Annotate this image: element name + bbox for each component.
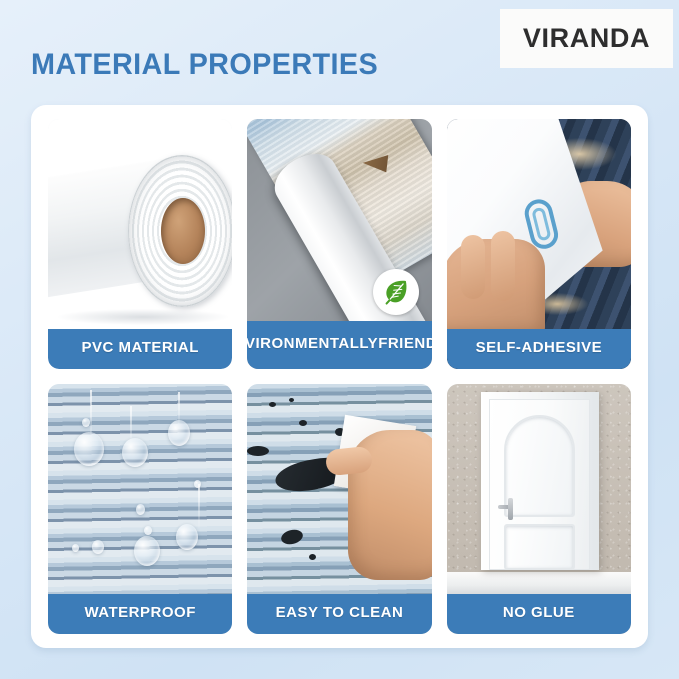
stain-dot (299, 420, 307, 426)
stain-dot (280, 528, 305, 547)
feature-label-waterproof: WATERPROOF (48, 594, 232, 634)
door-frame (481, 392, 599, 570)
door-panel-upper (504, 415, 575, 517)
feature-card-environmentally-friendly[interactable]: ENVIRONMENTALLY FRIENDLY (247, 119, 431, 369)
feature-label-environmentally-friendly: ENVIRONMENTALLY FRIENDLY (247, 321, 431, 369)
water-droplet (74, 432, 104, 466)
water-droplet (92, 540, 104, 554)
stain-dot (247, 446, 269, 456)
water-droplet (144, 526, 152, 535)
infographic-root: VIRANDA MATERIAL PROPERTIES PVC MATERIAL (0, 0, 679, 679)
water-droplet (136, 504, 145, 515)
stain-dot (289, 398, 294, 402)
eco-leaf-badge (373, 269, 419, 315)
water-droplet (72, 544, 79, 552)
water-droplet (82, 418, 90, 427)
roll-shadow (58, 309, 228, 325)
feature-label-pvc-material: PVC MATERIAL (48, 329, 232, 369)
feature-card-easy-to-clean[interactable]: EASY TO CLEAN (247, 384, 431, 634)
feature-label-line-1: ENVIRONMENTALLY (247, 336, 378, 352)
feature-grid: PVC MATERIAL (48, 119, 631, 634)
brand-logo-box: VIRANDA (500, 9, 673, 68)
feature-label-easy-to-clean: EASY TO CLEAN (247, 594, 431, 634)
page-title: MATERIAL PROPERTIES (31, 48, 378, 82)
feature-card-waterproof[interactable]: WATERPROOF (48, 384, 232, 634)
leaf-icon (381, 277, 411, 307)
water-droplet (122, 438, 148, 467)
left-hand (447, 239, 545, 335)
feature-card-no-glue[interactable]: NO GLUE (447, 384, 631, 634)
feature-label-line-2: FRIENDLY (378, 336, 431, 352)
cleaning-hand (348, 430, 432, 580)
baseboard (447, 572, 631, 594)
water-droplet (176, 524, 198, 550)
roll-core-icon (161, 198, 205, 264)
stain-dot (309, 554, 316, 560)
feature-card-pvc-material[interactable]: PVC MATERIAL (48, 119, 232, 369)
feature-panel: PVC MATERIAL (31, 105, 648, 648)
door-panel-lower (504, 524, 575, 570)
stain-dot (269, 402, 276, 407)
door-leaf (489, 399, 590, 570)
feature-card-self-adhesive[interactable]: SELF-ADHESIVE (447, 119, 631, 369)
feature-label-self-adhesive: SELF-ADHESIVE (447, 329, 631, 369)
water-droplet (168, 420, 190, 446)
brand-name: VIRANDA (523, 23, 650, 54)
water-trail (198, 484, 200, 528)
water-droplet (134, 536, 160, 566)
door-handle-icon (498, 505, 513, 509)
feature-label-no-glue: NO GLUE (447, 594, 631, 634)
